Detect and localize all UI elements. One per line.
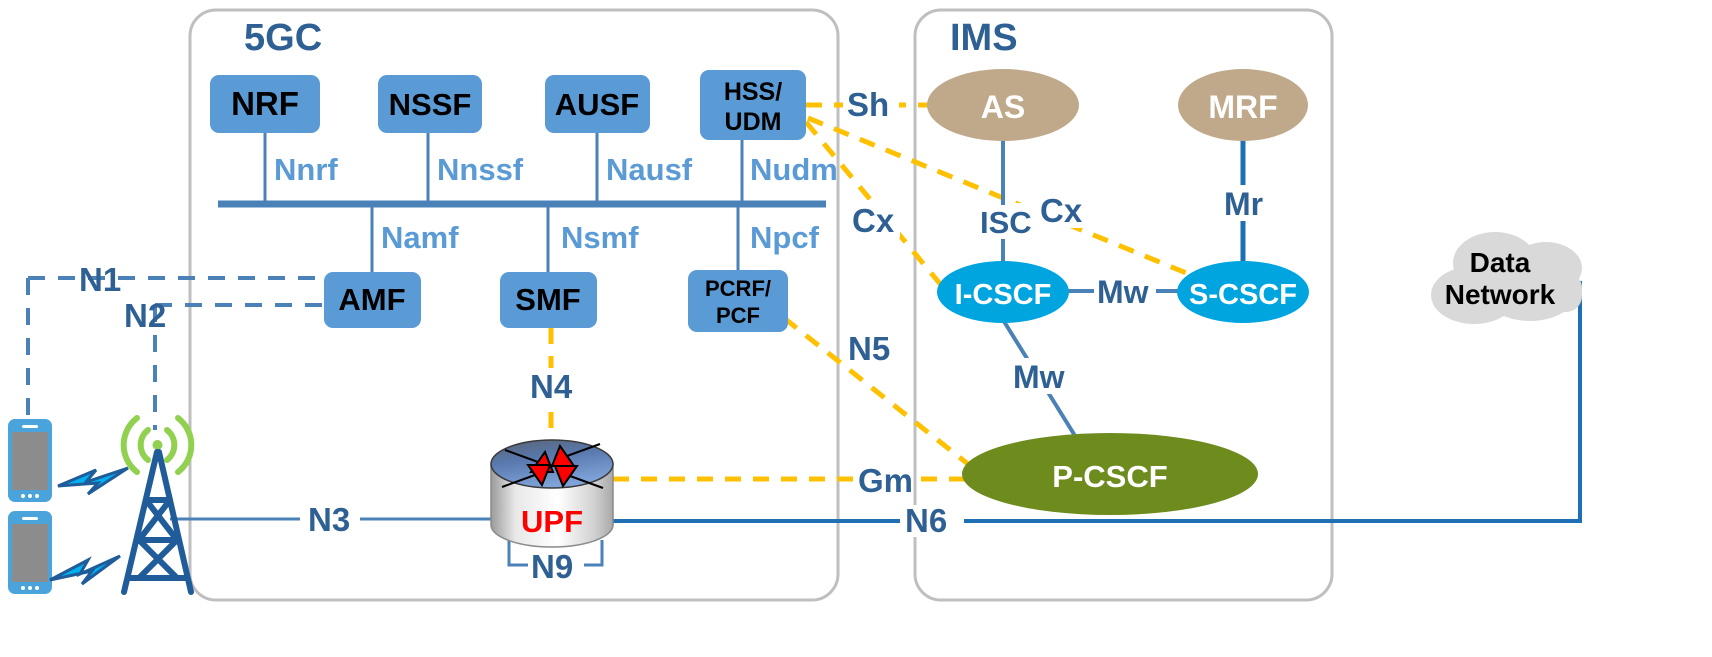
node-nrf-label: NRF	[231, 85, 299, 122]
label-n9: N9	[531, 548, 573, 585]
label-namf: Namf	[381, 220, 459, 255]
node-upf-label: UPF	[521, 504, 583, 539]
node-pcscf[interactable]: P-CSCF	[962, 433, 1258, 515]
node-data-network[interactable]: Data Network	[1431, 232, 1582, 324]
node-as[interactable]: AS	[927, 69, 1079, 141]
node-hss-udm-label-line2: UDM	[725, 108, 782, 136]
label-cx-scscf: Cx	[1040, 192, 1083, 229]
node-data-network-label-line1: Data	[1470, 247, 1531, 278]
label-cx-icscf: Cx	[852, 202, 895, 239]
node-icscf[interactable]: I-CSCF	[937, 261, 1069, 323]
node-hss-udm[interactable]: HSS/ UDM	[700, 70, 806, 140]
label-mw-i-p: Mw	[1013, 359, 1065, 395]
label-mr: Mr	[1224, 186, 1263, 222]
node-smf-label: SMF	[515, 282, 580, 317]
label-n3-text: N3	[308, 501, 350, 538]
diagram-canvas: 5GC IMS Nnrf Nnssf Nausf Nudm Namf Nsmf …	[0, 0, 1712, 657]
node-hss-udm-label-line1: HSS/	[724, 78, 782, 106]
node-ausf-label: AUSF	[555, 87, 639, 122]
label-nnrf: Nnrf	[274, 152, 338, 187]
label-nausf: Nausf	[606, 152, 693, 187]
node-amf[interactable]: AMF	[324, 272, 421, 328]
label-sh: Sh	[847, 86, 889, 123]
label-nudm: Nudm	[750, 152, 838, 187]
label-n2: N2	[124, 297, 166, 334]
node-pcrf-pcf-label-line2: PCF	[716, 303, 760, 328]
node-nrf[interactable]: NRF	[210, 75, 320, 133]
label-n6: N6	[905, 502, 947, 539]
node-smf[interactable]: SMF	[500, 272, 597, 328]
group-title-ims: IMS	[950, 17, 1018, 59]
network-architecture-diagram: 5GC IMS Nnrf Nnssf Nausf Nudm Namf Nsmf …	[0, 0, 1712, 657]
ue-phone-2[interactable]	[8, 511, 52, 594]
node-pcscf-label: P-CSCF	[1052, 459, 1167, 494]
node-data-network-label-line2: Network	[1445, 279, 1556, 310]
node-icscf-label: I-CSCF	[955, 279, 1052, 311]
node-amf-label: AMF	[338, 282, 405, 317]
group-title-5gc: 5GC	[244, 17, 322, 59]
node-scscf[interactable]: S-CSCF	[1177, 261, 1309, 323]
label-n4: N4	[530, 368, 573, 405]
gnb-antenna-icon[interactable]	[124, 418, 192, 592]
node-mrf[interactable]: MRF	[1178, 69, 1308, 141]
cloud-icon	[1431, 232, 1582, 324]
label-n5: N5	[848, 330, 890, 367]
antenna-dot-icon	[153, 440, 163, 450]
node-pcrf-pcf-label-line1: PCRF/	[705, 276, 771, 301]
node-pcrf-pcf[interactable]: PCRF/ PCF	[688, 270, 788, 332]
node-nssf-label: NSSF	[389, 87, 472, 122]
radio-bolt-icon-1	[58, 468, 128, 494]
label-nsmf: Nsmf	[561, 220, 639, 255]
label-nnssf: Nnssf	[437, 152, 524, 187]
label-mw-i-s: Mw	[1097, 274, 1149, 310]
node-upf[interactable]: UPF	[491, 440, 613, 547]
label-n1: N1	[79, 261, 121, 298]
node-ausf[interactable]: AUSF	[545, 75, 650, 133]
node-nssf[interactable]: NSSF	[378, 75, 482, 133]
label-isc: ISC	[980, 205, 1032, 240]
radio-bolt-icon-2	[50, 556, 120, 584]
node-mrf-label: MRF	[1208, 89, 1277, 125]
node-as-label: AS	[981, 89, 1025, 125]
ue-phone-1[interactable]	[8, 419, 52, 502]
node-scscf-label: S-CSCF	[1189, 279, 1297, 311]
label-gm: Gm	[858, 462, 913, 499]
label-npcf: Npcf	[750, 220, 820, 255]
